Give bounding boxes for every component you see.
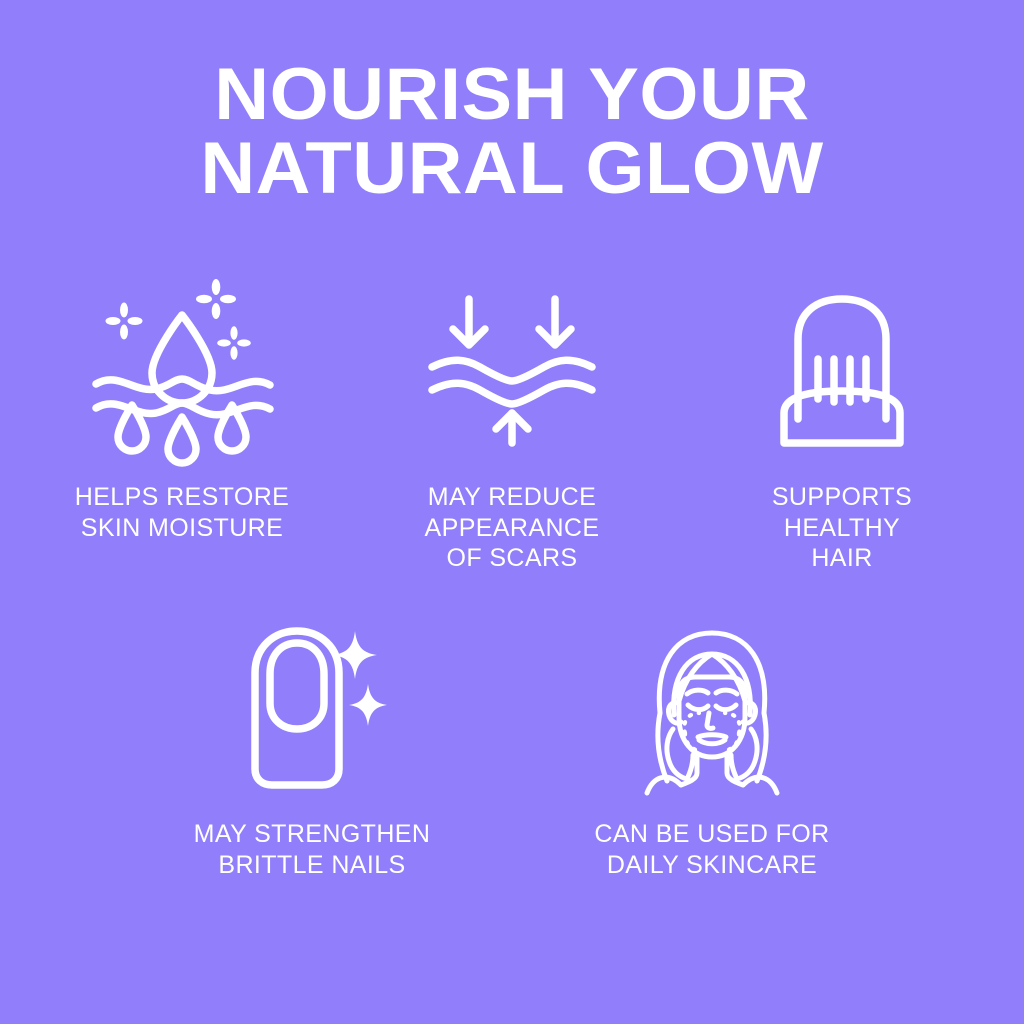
benefit-item-hair: SUPPORTS HEALTHY HAIR xyxy=(677,279,1007,574)
caption-line: HELPS RESTORE xyxy=(75,482,290,513)
benefits-row-top: HELPS RESTORE SKIN MOISTURE xyxy=(0,279,1024,574)
caption-line: OF SCARS xyxy=(425,543,600,574)
caption-line: APPEARANCE xyxy=(425,513,600,544)
arrows-compress-wavy-lines-icon xyxy=(422,291,602,451)
benefits-row-bottom: MAY STRENGTHEN BRITTLE NAILS xyxy=(0,616,1024,881)
caption-line: SUPPORTS xyxy=(772,482,912,513)
benefit-icon-container xyxy=(82,279,282,464)
benefit-item-moisture: HELPS RESTORE SKIN MOISTURE xyxy=(17,279,347,544)
caption-line: BRITTLE NAILS xyxy=(194,850,431,881)
benefit-caption: CAN BE USED FOR DAILY SKINCARE xyxy=(594,819,829,881)
page-title: NOURISH YOUR NATURAL GLOW xyxy=(0,58,1024,207)
benefit-icon-container xyxy=(237,616,387,801)
headline-line-2: NATURAL GLOW xyxy=(0,132,1024,206)
caption-line: MAY STRENGTHEN xyxy=(194,819,431,850)
benefit-caption: MAY STRENGTHEN BRITTLE NAILS xyxy=(194,819,431,881)
woman-face-skincare-icon xyxy=(627,621,797,796)
benefit-caption: SUPPORTS HEALTHY HAIR xyxy=(772,482,912,574)
caption-line: SKIN MOISTURE xyxy=(75,513,290,544)
caption-line: MAY REDUCE xyxy=(425,482,600,513)
benefit-icon-container xyxy=(627,616,797,801)
caption-line: HAIR xyxy=(772,543,912,574)
caption-line: DAILY SKINCARE xyxy=(594,850,829,881)
water-droplet-skin-layers-icon xyxy=(82,281,282,461)
benefits-poster: NOURISH YOUR NATURAL GLOW xyxy=(0,0,1024,1024)
headline-line-1: NOURISH YOUR xyxy=(0,58,1024,132)
fingernail-sparkle-icon xyxy=(237,621,387,796)
benefit-icon-container xyxy=(422,279,602,464)
benefit-caption: MAY REDUCE APPEARANCE OF SCARS xyxy=(425,482,600,574)
benefit-item-skincare: CAN BE USED FOR DAILY SKINCARE xyxy=(512,616,912,881)
hair-strands-icon xyxy=(772,291,912,451)
benefit-item-scars: MAY REDUCE APPEARANCE OF SCARS xyxy=(347,279,677,574)
caption-line: HEALTHY xyxy=(772,513,912,544)
benefit-caption: HELPS RESTORE SKIN MOISTURE xyxy=(75,482,290,544)
benefit-icon-container xyxy=(772,279,912,464)
benefit-item-nails: MAY STRENGTHEN BRITTLE NAILS xyxy=(112,616,512,881)
caption-line: CAN BE USED FOR xyxy=(594,819,829,850)
